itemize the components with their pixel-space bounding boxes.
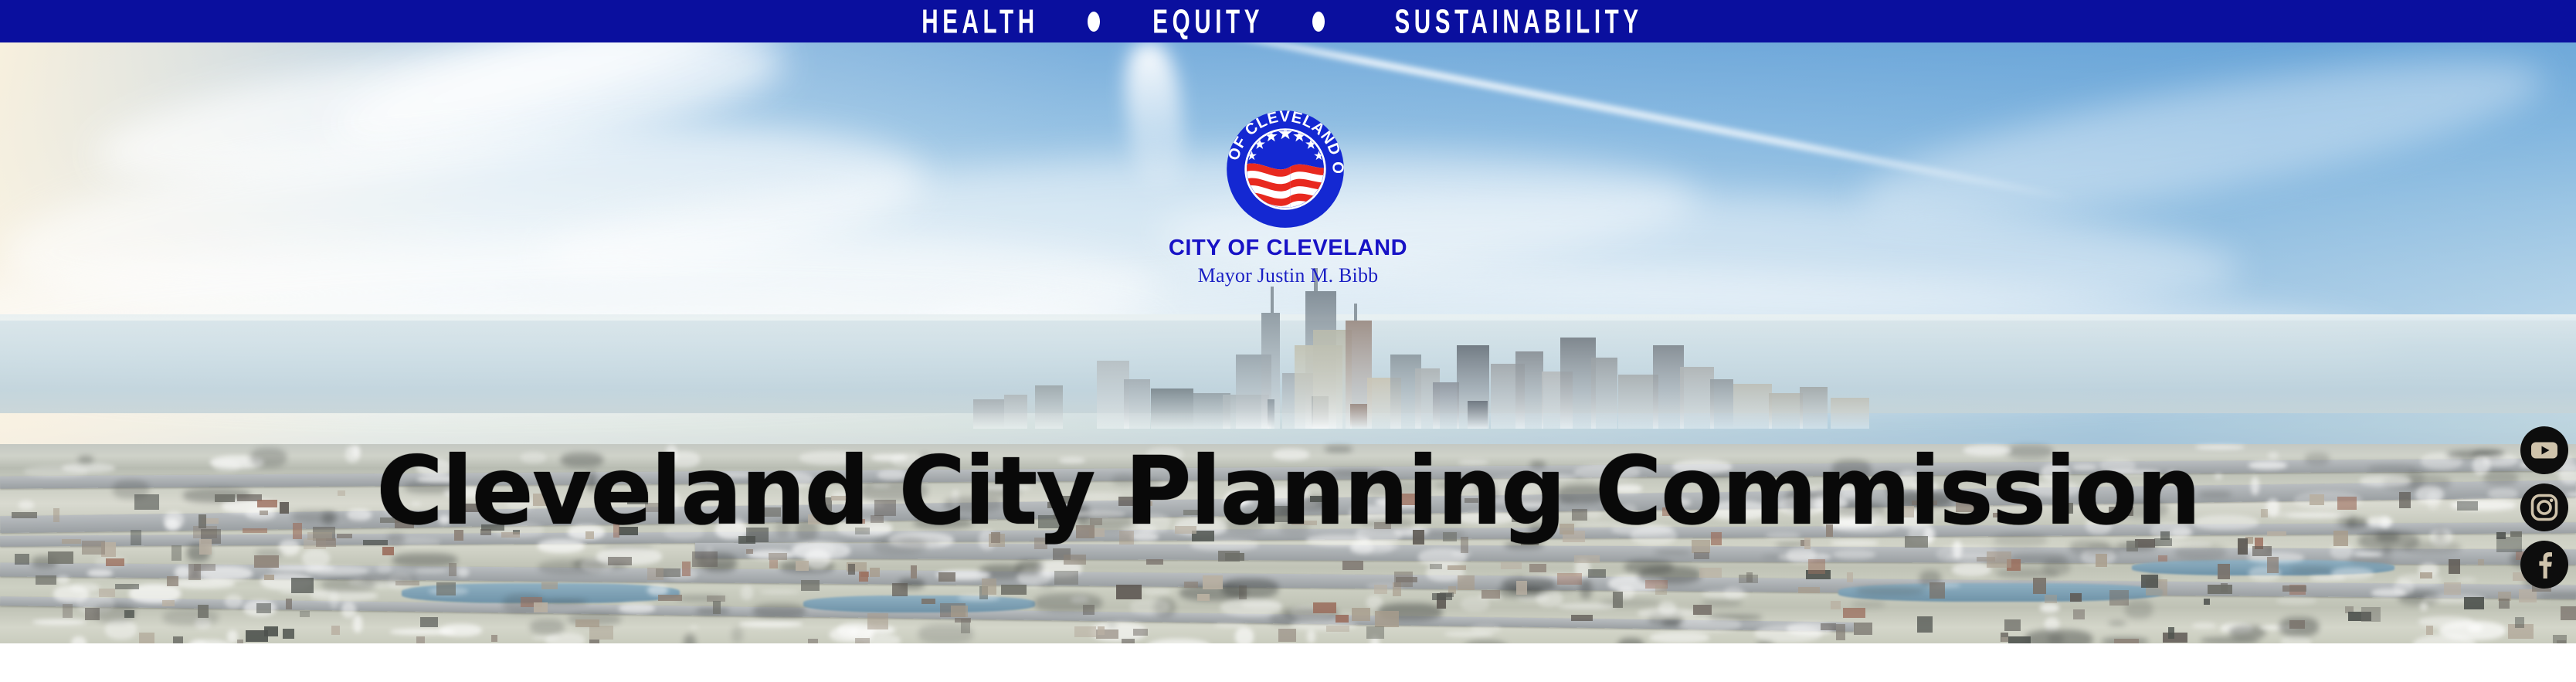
building-rooftop xyxy=(331,626,340,635)
social-link-youtube[interactable] xyxy=(2520,426,2568,474)
building-rooftop xyxy=(2109,590,2129,606)
snow-patch xyxy=(353,615,362,633)
terrain-dark-patch xyxy=(1851,601,1885,608)
snow-patch xyxy=(227,630,238,643)
building-rooftop xyxy=(1352,608,1370,621)
bottom-white-strip xyxy=(0,643,2576,682)
snow-patch xyxy=(1307,629,1315,643)
snow-patch xyxy=(1724,586,1743,599)
skyline-building xyxy=(1004,395,1027,429)
building-rooftop xyxy=(2282,585,2306,592)
building-rooftop xyxy=(1854,623,1872,635)
terrain-dark-patch xyxy=(1502,577,1555,592)
snow-patch xyxy=(440,624,482,636)
snow-patch xyxy=(1650,632,1709,643)
building-rooftop xyxy=(99,589,115,597)
building-rooftop xyxy=(2204,599,2210,605)
building-rooftop xyxy=(2499,599,2510,609)
building-rooftop xyxy=(801,580,820,591)
snow-patch xyxy=(225,595,243,609)
building-rooftop xyxy=(1203,575,1223,589)
building-rooftop xyxy=(1516,581,1527,595)
snow-patch xyxy=(341,602,356,618)
skyline-building xyxy=(1680,367,1714,429)
terrain-dark-patch xyxy=(1108,623,1116,627)
terrain-dark-patch xyxy=(1601,599,1660,606)
building-rooftop xyxy=(106,558,124,566)
building-rooftop xyxy=(870,568,880,577)
page-root: HEALTH EQUITY SUSTAINABILITY xyxy=(0,0,2576,682)
snow-patch xyxy=(1142,589,1171,595)
snow-patch xyxy=(958,595,1000,601)
building-rooftop xyxy=(1917,616,1933,633)
building-rooftop xyxy=(647,568,664,580)
building-rooftop xyxy=(167,576,178,586)
building-rooftop xyxy=(283,629,294,639)
terrain-dark-patch xyxy=(1039,583,1054,587)
building-rooftop xyxy=(1064,555,1086,565)
building-rooftop xyxy=(1430,564,1442,569)
building-rooftop xyxy=(2141,575,2158,588)
snow-patch xyxy=(1471,624,1501,633)
snow-patch xyxy=(850,629,857,635)
skyline-building xyxy=(1124,379,1150,429)
skyline-building xyxy=(1591,358,1617,429)
building-rooftop xyxy=(2163,633,2187,643)
building-rooftop xyxy=(1571,615,1593,621)
snow-patch xyxy=(71,636,87,643)
building-rooftop xyxy=(2464,597,2484,609)
terrain-dark-patch xyxy=(2350,556,2393,565)
building-rooftop xyxy=(1432,593,1452,600)
building-rooftop xyxy=(2361,607,2381,622)
building-rooftop xyxy=(1987,551,2011,568)
terrain-dark-patch xyxy=(392,553,457,567)
building-rooftop xyxy=(2208,585,2232,594)
skyline-spire xyxy=(1271,287,1274,313)
building-rooftop xyxy=(1831,601,1841,609)
building-rooftop xyxy=(2218,564,2230,579)
building-rooftop xyxy=(199,539,212,555)
building-rooftop xyxy=(1739,575,1758,583)
building-rooftop xyxy=(982,579,996,595)
skyline-building xyxy=(1710,379,1733,429)
building-rooftop xyxy=(2008,636,2031,643)
building-rooftop xyxy=(2267,557,2279,573)
skyline-building xyxy=(1433,382,1459,429)
building-rooftop xyxy=(48,551,73,564)
snow-patch xyxy=(32,619,87,625)
building-rooftop xyxy=(1694,552,1709,559)
snow-patch xyxy=(545,633,585,643)
building-rooftop xyxy=(1278,629,1296,642)
snow-patch xyxy=(1678,617,1741,632)
building-rooftop xyxy=(1396,577,1417,582)
building-rooftop xyxy=(15,554,29,565)
building-rooftop xyxy=(1929,582,1945,599)
building-rooftop xyxy=(1239,585,1247,599)
terrain-dark-patch xyxy=(684,634,696,643)
youtube-icon xyxy=(2529,435,2560,466)
snow-patch xyxy=(172,579,235,589)
terrain-dark-patch xyxy=(1016,561,1043,575)
snow-patch xyxy=(2192,623,2216,629)
snow-patch xyxy=(1220,599,1281,616)
building-rooftop xyxy=(1693,605,1712,615)
building-rooftop xyxy=(2070,593,2082,602)
building-rooftop xyxy=(575,619,599,627)
building-rooftop xyxy=(85,608,100,620)
building-rooftop xyxy=(951,606,968,617)
building-rooftop xyxy=(173,636,183,643)
snow-patch xyxy=(1833,550,1875,559)
terrain-dark-patch xyxy=(2125,599,2153,619)
snow-patch xyxy=(739,621,803,627)
building-rooftop xyxy=(1074,626,1096,637)
building-rooftop xyxy=(171,545,182,561)
building-rooftop xyxy=(1326,626,1349,632)
snow-patch xyxy=(1214,623,1246,627)
snow-patch xyxy=(741,585,753,600)
terrain-dark-patch xyxy=(731,627,743,643)
building-rooftop xyxy=(2033,578,2046,594)
terrain-dark-patch xyxy=(1655,550,1692,555)
skyline-building xyxy=(973,399,1004,429)
building-rooftop xyxy=(1054,571,1078,585)
snow-patch xyxy=(53,585,89,602)
building-rooftop xyxy=(382,547,394,555)
building-rooftop xyxy=(316,538,336,547)
building-rooftop xyxy=(491,635,497,642)
building-rooftop xyxy=(589,626,613,640)
terrain-dark-patch xyxy=(2048,634,2064,643)
skyline-building xyxy=(1653,345,1684,429)
snow-patch xyxy=(1536,590,1563,607)
building-rooftop xyxy=(1458,575,1475,590)
skyline-building xyxy=(1733,384,1772,429)
building-rooftop xyxy=(395,581,419,585)
skyline-building xyxy=(1268,399,1274,429)
building-rooftop xyxy=(256,603,271,613)
snow-patch xyxy=(457,568,469,577)
building-rooftop xyxy=(2001,637,2008,642)
terrain-dark-patch xyxy=(1856,586,1924,595)
building-rooftop xyxy=(2252,546,2272,556)
building-rooftop xyxy=(124,610,134,618)
terrain-dark-patch xyxy=(2290,566,2333,573)
building-rooftop xyxy=(769,553,787,560)
building-rooftop xyxy=(1808,559,1825,574)
snow-patch xyxy=(1130,599,1170,615)
building-rooftop xyxy=(1798,587,1820,593)
building-rooftop xyxy=(2045,595,2057,603)
building-rooftop xyxy=(62,539,81,544)
snow-patch xyxy=(1461,596,1489,612)
building-rooftop xyxy=(1375,611,1399,627)
building-rooftop xyxy=(82,541,105,555)
building-rooftop xyxy=(1847,572,1853,582)
building-rooftop xyxy=(769,560,778,568)
building-rooftop xyxy=(1197,594,1210,601)
building-rooftop xyxy=(2561,606,2576,620)
terrain-dark-patch xyxy=(545,599,588,604)
building-rooftop xyxy=(264,575,274,580)
building-rooftop xyxy=(541,582,558,589)
building-rooftop xyxy=(1699,568,1722,578)
snow-patch xyxy=(270,565,334,571)
building-rooftop xyxy=(855,638,870,643)
building-rooftop xyxy=(2073,609,2085,619)
building-rooftop xyxy=(286,599,292,609)
building-rooftop xyxy=(1574,555,1600,563)
building-rooftop xyxy=(867,613,888,629)
building-rooftop xyxy=(1374,585,1387,594)
building-rooftop xyxy=(848,564,855,575)
tagline-word-health: HEALTH xyxy=(917,5,1038,39)
skyline-spire xyxy=(1314,268,1318,291)
building-rooftop xyxy=(892,583,908,596)
building-rooftop xyxy=(1083,605,1095,615)
social-link-facebook[interactable] xyxy=(2520,541,2568,589)
city-seal: CITY OF CLEVELAND OHIO xyxy=(1224,108,1346,230)
building-rooftop xyxy=(1588,569,1606,578)
building-rooftop xyxy=(1529,564,1546,572)
building-rooftop xyxy=(911,565,917,579)
building-rooftop xyxy=(198,605,209,618)
building-rooftop xyxy=(115,584,139,589)
building-rooftop xyxy=(449,563,456,576)
terrain-dark-patch xyxy=(2109,621,2126,626)
snow-patch xyxy=(2040,603,2059,612)
building-rooftop xyxy=(1001,585,1027,595)
building-rooftop xyxy=(1146,559,1163,565)
terrain-dark-patch xyxy=(163,609,219,626)
building-rooftop xyxy=(938,572,955,582)
building-rooftop xyxy=(955,618,971,623)
building-rooftop xyxy=(860,572,869,577)
social-links xyxy=(2520,426,2568,589)
building-rooftop xyxy=(1843,608,1865,618)
building-rooftop xyxy=(921,599,935,604)
terrain-dark-patch xyxy=(2539,592,2576,599)
snow-patch xyxy=(690,625,698,629)
building-rooftop xyxy=(1313,602,1336,613)
building-rooftop xyxy=(1448,565,1466,570)
skyline-building xyxy=(1515,351,1543,429)
snow-patch xyxy=(56,575,70,584)
building-rooftop xyxy=(63,604,73,618)
building-rooftop xyxy=(1655,585,1667,595)
tagline-banner: HEALTH EQUITY SUSTAINABILITY xyxy=(0,0,2576,42)
tagline-inner: HEALTH EQUITY SUSTAINABILITY xyxy=(902,7,1675,36)
building-rooftop xyxy=(162,600,175,606)
building-rooftop xyxy=(1613,592,1623,608)
building-rooftop xyxy=(2238,538,2248,555)
snow-patch xyxy=(2276,597,2316,605)
building-rooftop xyxy=(300,611,310,617)
facebook-icon xyxy=(2529,549,2560,580)
tagline-separator-dot-1 xyxy=(1088,12,1100,32)
snow-patch xyxy=(2458,577,2476,582)
building-rooftop xyxy=(1098,626,1105,635)
building-rooftop xyxy=(608,557,632,565)
building-rooftop xyxy=(2426,626,2433,635)
building-rooftop xyxy=(1501,562,1522,569)
snow-patch xyxy=(416,567,446,573)
building-rooftop xyxy=(1225,553,1244,561)
skyline-building xyxy=(1769,393,1803,429)
building-rooftop xyxy=(534,602,548,612)
terrain-dark-patch xyxy=(1997,568,2058,579)
building-rooftop xyxy=(682,562,691,576)
skyline-building xyxy=(1350,404,1367,429)
tagline-word-equity: EQUITY xyxy=(1149,5,1264,39)
building-rooftop xyxy=(436,582,456,595)
building-rooftop xyxy=(194,564,216,571)
cuyahoga-river xyxy=(803,595,1035,612)
building-rooftop xyxy=(416,636,425,643)
building-rooftop xyxy=(36,575,56,585)
building-rooftop xyxy=(264,626,278,636)
skyline-building xyxy=(1800,387,1828,429)
snow-patch xyxy=(2330,544,2353,559)
building-rooftop xyxy=(1336,615,1349,623)
snow-patch xyxy=(760,590,799,594)
snow-patch xyxy=(1235,627,1254,643)
snow-patch xyxy=(619,603,655,613)
terrain-dark-patch xyxy=(530,619,565,634)
building-rooftop xyxy=(2168,627,2174,639)
building-rooftop xyxy=(2420,572,2432,579)
building-rooftop xyxy=(2158,555,2167,562)
building-rooftop xyxy=(2478,559,2484,565)
skyline-building xyxy=(1035,385,1063,429)
hero-photo: CITY OF CLEVELAND OHIO xyxy=(0,42,2576,643)
building-rooftop xyxy=(2289,620,2305,629)
building-rooftop xyxy=(1116,585,1142,599)
snow-patch xyxy=(2354,552,2382,556)
snow-patch xyxy=(1638,608,1697,619)
building-rooftop xyxy=(796,561,809,571)
skyline-building xyxy=(1151,389,1193,429)
building-rooftop xyxy=(12,512,37,518)
building-rooftop xyxy=(420,617,438,627)
building-rooftop xyxy=(1821,623,1836,630)
snow-patch xyxy=(2331,568,2374,579)
building-rooftop xyxy=(1836,624,1845,640)
snow-patch xyxy=(2371,589,2406,597)
building-rooftop xyxy=(2004,619,2021,631)
building-rooftop xyxy=(1133,629,1148,636)
building-rooftop xyxy=(658,595,682,601)
building-rooftop xyxy=(2496,537,2522,552)
building-rooftop xyxy=(1481,590,1500,599)
snow-patch xyxy=(647,585,668,595)
skyline-building xyxy=(1831,398,1869,429)
social-link-instagram[interactable] xyxy=(2520,484,2568,531)
building-rooftop xyxy=(1366,626,1384,639)
page-title: Cleveland City Planning Commission xyxy=(39,444,2537,538)
skyline-building xyxy=(1468,401,1488,429)
instagram-icon xyxy=(2529,492,2560,523)
building-rooftop xyxy=(692,551,718,567)
building-rooftop xyxy=(254,555,279,568)
building-rooftop xyxy=(2515,617,2524,628)
city-of-cleveland-seal-icon: CITY OF CLEVELAND OHIO xyxy=(1224,108,1346,230)
building-rooftop xyxy=(1557,573,1582,585)
snow-patch xyxy=(377,565,392,574)
snow-patch xyxy=(87,569,113,577)
building-rooftop xyxy=(2553,635,2567,643)
skyline-spire xyxy=(1354,304,1357,321)
building-rooftop xyxy=(1184,582,1198,588)
tagline-separator-dot-2 xyxy=(1312,12,1325,32)
building-rooftop xyxy=(139,633,154,643)
tagline-word-sustainability: SUSTAINABILITY xyxy=(1390,5,1643,39)
terrain-dark-patch xyxy=(1617,638,1644,643)
building-rooftop xyxy=(746,549,753,554)
building-rooftop xyxy=(291,578,314,593)
terrain-dark-patch xyxy=(1662,619,1682,626)
snow-patch xyxy=(1952,563,1991,576)
building-rooftop xyxy=(2444,582,2461,595)
snow-patch xyxy=(2420,602,2428,611)
snow-patch xyxy=(19,500,34,510)
terrain-dark-patch xyxy=(753,604,806,618)
building-rooftop xyxy=(1342,561,1363,570)
building-rooftop xyxy=(2449,559,2460,574)
building-rooftop xyxy=(2096,554,2107,567)
building-rooftop xyxy=(713,601,721,614)
